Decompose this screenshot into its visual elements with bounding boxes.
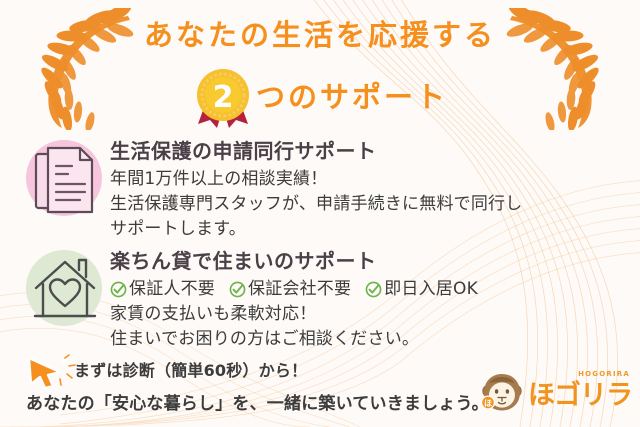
medal-number: 2 bbox=[213, 80, 234, 115]
medal-icon: 2 2 bbox=[192, 66, 254, 128]
check-item: 即日入居OK bbox=[365, 277, 478, 302]
support-heading: 生活保護の申請同行サポート bbox=[110, 138, 628, 164]
support-line: 生活保護専門スタッフが、申請手続きに無料で同行し bbox=[110, 192, 628, 217]
support-banner: あなたの生活を応援する 2 2 つのサポート bbox=[0, 0, 640, 427]
house-heart-icon-badge bbox=[18, 246, 110, 342]
gorilla-mascot-icon: ほ bbox=[480, 372, 526, 414]
svg-text:ほ: ほ bbox=[484, 399, 492, 408]
support-check-line: 保証人不要 保証会社不要 即日入居OK bbox=[110, 277, 628, 302]
banner-title-suffix: つのサポート bbox=[256, 80, 448, 114]
support-text-block: 楽ちん貸で住まいのサポート 保証人不要 保証会社不要 bbox=[110, 246, 628, 352]
check-label: 保証人不要 bbox=[129, 277, 215, 302]
check-item: 保証会社不要 bbox=[229, 277, 351, 302]
support-item-application: 生活保護の申請同行サポート 年間1万件以上の相談実績！ 生活保護専門スタッフが、… bbox=[18, 136, 628, 242]
check-label: 保証会社不要 bbox=[248, 277, 351, 302]
brand-logo[interactable]: ほ HOGORIRA ほゴリラ bbox=[480, 372, 632, 414]
support-item-housing: 楽ちん貸で住まいのサポート 保証人不要 保証会社不要 bbox=[18, 246, 628, 352]
banner-header: あなたの生活を応援する 2 2 つのサポート bbox=[0, 0, 640, 128]
support-line: 家賃の支払いも柔軟対応！ bbox=[110, 302, 628, 327]
documents-icon-badge bbox=[18, 136, 110, 232]
support-heading: 楽ちん貸で住まいのサポート bbox=[110, 248, 628, 274]
check-circle-icon bbox=[110, 281, 127, 298]
banner-title-line1: あなたの生活を応援する bbox=[0, 18, 640, 52]
banner-footer: まずは診断（簡単60秒）から！ あなたの「安心な暮らし」を、一緒に築いていきまし… bbox=[0, 352, 640, 427]
footer-line2: あなたの「安心な暮らし」を、一緒に築いていきましょう。 bbox=[26, 392, 489, 416]
support-line: 年間1万件以上の相談実績！ bbox=[110, 167, 628, 192]
house-heart-icon bbox=[32, 254, 98, 326]
check-circle-icon bbox=[229, 281, 246, 298]
check-item: 保証人不要 bbox=[110, 277, 215, 302]
support-text-block: 生活保護の申請同行サポート 年間1万件以上の相談実績！ 生活保護専門スタッフが、… bbox=[110, 136, 628, 242]
footer-line1: まずは診断（簡単60秒）から！ bbox=[74, 360, 307, 382]
click-cursor-icon bbox=[26, 354, 78, 390]
logo-text: HOGORIRA ほゴリラ bbox=[528, 373, 632, 413]
banner-title-line2-group: 2 2 つのサポート bbox=[0, 66, 640, 128]
logo-romaji: HOGORIRA bbox=[578, 370, 630, 378]
documents-icon bbox=[32, 144, 98, 216]
support-line: サポートします。 bbox=[110, 217, 628, 242]
check-label: 即日入居OK bbox=[384, 277, 478, 302]
logo-kana: ほゴリラ bbox=[528, 373, 632, 413]
check-circle-icon bbox=[365, 281, 382, 298]
support-line: 住まいでお困りの方はご相談ください。 bbox=[110, 327, 628, 352]
